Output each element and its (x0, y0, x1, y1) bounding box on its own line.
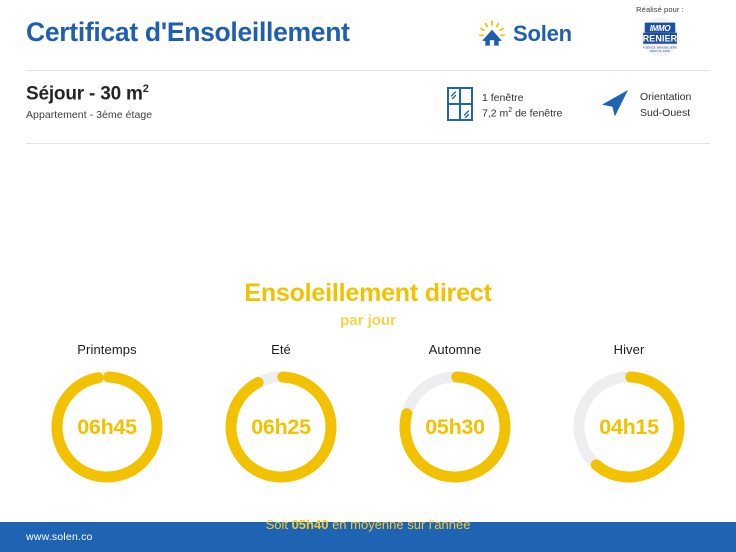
season-gauge-label: Printemps (27, 342, 187, 357)
average-prefix: Soit (266, 517, 292, 532)
average-value: 05h40 (292, 517, 329, 532)
season-gauge-ring: 06h25 (220, 366, 342, 488)
season-gauge-label: Eté (201, 342, 361, 357)
window-info: 1 fenêtre 7,2 m2 de fenêtre (447, 87, 562, 126)
season-gauge-automne: Automne05h30 (375, 342, 535, 488)
orientation-label: Orientation (640, 90, 691, 105)
certificate-page: Certificat d'Ensoleillement (0, 0, 736, 552)
annual-average-note: Soit 05h40 en moyenne sur l'année (0, 517, 736, 532)
chart-title: Ensoleillement direct (0, 279, 736, 308)
svg-text:RENIER: RENIER (643, 34, 678, 44)
orientation-fact-text: Orientation Sud-Ouest (640, 90, 691, 120)
solen-sun-house-logo-icon (478, 20, 506, 48)
svg-text:IMMO: IMMO (650, 24, 672, 33)
season-gauge-ring: 05h30 (394, 366, 516, 488)
footer-website-url[interactable]: www.solen.co (26, 531, 93, 543)
page-title: Certificat d'Ensoleillement (26, 17, 350, 48)
header: Certificat d'Ensoleillement (0, 0, 736, 70)
brand-name: Solen (513, 21, 572, 47)
navigation-arrow-icon (597, 87, 631, 124)
orientation-value: Sud-Ouest (640, 106, 691, 121)
window-fact-text: 1 fenêtre 7,2 m2 de fenêtre (482, 91, 562, 122)
season-gauge-printemps: Printemps06h45 (27, 342, 187, 488)
realise-pour-label: Réalisé pour : (604, 5, 716, 14)
season-gauge-value: 06h45 (46, 366, 168, 488)
season-gauge-ring: 06h45 (46, 366, 168, 488)
average-suffix: en moyenne sur l'année (328, 517, 470, 532)
svg-text:DEPUIS 1958: DEPUIS 1958 (650, 49, 670, 53)
season-gauge-value: 06h25 (220, 366, 342, 488)
room-subtitle: Appartement - 3ème étage (26, 109, 152, 121)
season-gauge-label: Hiver (549, 342, 709, 357)
brand-logo-group: Solen (478, 20, 572, 48)
season-gauge-label: Automne (375, 342, 535, 357)
window-area-prefix: 7,2 m (482, 108, 508, 120)
season-gauge-ring: 04h15 (568, 366, 690, 488)
room-title-text: Séjour - 30 m (26, 83, 143, 104)
window-area: 7,2 m2 de fenêtre (482, 106, 562, 122)
property-info-row: Séjour - 30 m2 Appartement - 3ème étage (0, 71, 736, 143)
room-info: Séjour - 30 m2 Appartement - 3ème étage (26, 83, 152, 121)
season-gauge-value: 05h30 (394, 366, 516, 488)
season-gauge-hiver: Hiver04h15 (549, 342, 709, 488)
season-gauge-et-: Eté06h25 (201, 342, 361, 488)
partner-logo-immo-renier: IMMO RENIER AGENCE IMMOBILIERE DEPUIS 19… (636, 15, 684, 59)
orientation-info: Orientation Sud-Ouest (597, 87, 691, 124)
room-title: Séjour - 30 m2 (26, 83, 152, 105)
room-title-exponent: 2 (143, 83, 149, 95)
window-grid-icon (447, 87, 473, 126)
chart-subtitle: par jour (0, 312, 736, 329)
window-area-suffix: de fenêtre (512, 108, 562, 120)
season-gauges: Printemps06h45Eté06h25Automne05h30Hiver0… (20, 342, 716, 488)
partner-block: Réalisé pour : IMMO RENIER AGENCE IMMOBI… (604, 5, 716, 59)
sunlight-chart-section: Ensoleillement direct par jour Printemps… (0, 144, 736, 522)
season-gauge-value: 04h15 (568, 366, 690, 488)
window-count: 1 fenêtre (482, 91, 562, 106)
